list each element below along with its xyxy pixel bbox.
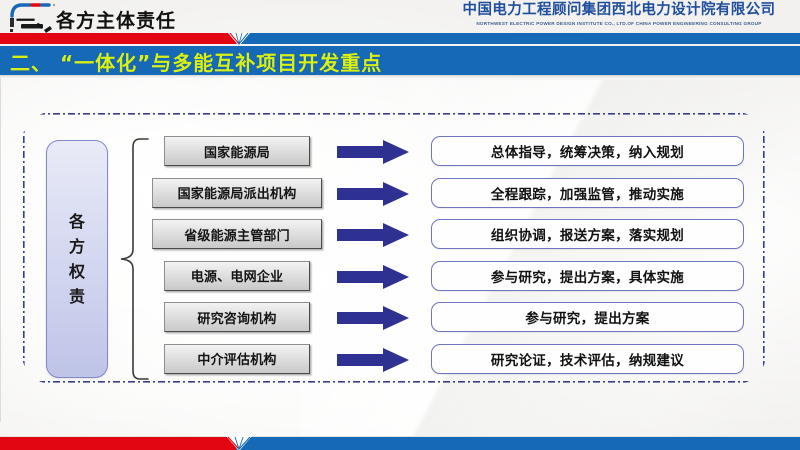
duty-box: 研究论证，技术评估，纳规建议 <box>431 344 744 374</box>
duty-label: 研究论证，技术评估，纳规建议 <box>491 349 684 369</box>
duty-label: 全程跟踪，加强监管，推动实施 <box>491 183 684 203</box>
divider-strip-blue <box>236 33 800 44</box>
duty-box: 参与研究，提出方案 <box>431 302 744 332</box>
divider-strip-bottom <box>0 437 800 450</box>
duty-box: 总体指导，统筹决策，纳入规划 <box>431 136 744 166</box>
right-arrow-icon <box>337 348 409 372</box>
company-name-cn: 中国电力工程顾问集团西北电力设计院有限公司 <box>444 2 794 18</box>
divider-strip-top <box>0 33 800 44</box>
actor-label: 省级能源主管部门 <box>184 225 290 244</box>
actor-box: 国家能源局派出机构 <box>152 178 322 208</box>
company-name-en: NORTHWEST ELECTRIC POWER DESIGN INSTITUT… <box>444 20 794 28</box>
diagram-row: 研究咨询机构参与研究，提出方案 <box>0 302 800 334</box>
duty-label: 组织协调，报送方案，落实规划 <box>491 224 684 244</box>
right-arrow-icon <box>337 140 409 164</box>
right-arrow-icon <box>337 182 409 206</box>
actor-box: 省级能源主管部门 <box>152 219 322 249</box>
duty-box: 组织协调，报送方案，落实规划 <box>431 219 744 249</box>
diagram-row: 国家能源局总体指导，统筹决策，纳入规划 <box>0 136 800 168</box>
actor-label: 国家能源局派出机构 <box>178 183 297 202</box>
actor-box: 电源、电网企业 <box>164 261 310 291</box>
footer-strip-red <box>0 437 236 450</box>
duty-label: 总体指导，统筹决策，纳入规划 <box>491 141 684 161</box>
slide-canvas: 中国电力工程顾问集团西北电力设计院有限公司 NORTHWEST ELECTRIC… <box>0 0 800 450</box>
duty-label: 参与研究，提出方案 <box>525 307 649 327</box>
actor-box: 国家能源局 <box>164 136 310 166</box>
divider-strip-red <box>0 33 236 44</box>
duty-box: 参与研究，提出方案，具体实施 <box>431 261 744 291</box>
actor-label: 中介评估机构 <box>197 349 276 368</box>
duty-box: 全程跟踪，加强监管，推动实施 <box>431 178 744 208</box>
diagram-row: 中介评估机构研究论证，技术评估，纳规建议 <box>0 344 800 376</box>
company-logo-block: 中国电力工程顾问集团西北电力设计院有限公司 NORTHWEST ELECTRIC… <box>444 2 794 28</box>
page-title-section1: 一、各方主体责任 <box>16 6 176 33</box>
right-arrow-icon <box>337 265 409 289</box>
divider-notch-icon <box>228 33 250 46</box>
footer-strip-blue <box>236 437 800 450</box>
actor-label: 研究咨询机构 <box>197 308 276 327</box>
diagram-row: 省级能源主管部门组织协调，报送方案，落实规划 <box>0 219 800 251</box>
actor-label: 电源、电网企业 <box>191 266 283 285</box>
group-label-box: 各 方 权 责 <box>46 140 108 378</box>
diagram-row: 国家能源局派出机构全程跟踪，加强监管，推动实施 <box>0 178 800 210</box>
page-title-section2: 二、 “一体化”与多能互补项目开发重点 <box>10 47 382 75</box>
actor-box: 研究咨询机构 <box>164 302 310 332</box>
actor-box: 中介评估机构 <box>164 344 310 374</box>
right-arrow-icon <box>337 223 409 247</box>
actor-label: 国家能源局 <box>204 142 270 161</box>
right-arrow-icon <box>337 306 409 330</box>
duty-label: 参与研究，提出方案，具体实施 <box>491 266 684 286</box>
diagram-row: 电源、电网企业参与研究，提出方案，具体实施 <box>0 261 800 293</box>
footer-notch-icon <box>226 436 252 450</box>
